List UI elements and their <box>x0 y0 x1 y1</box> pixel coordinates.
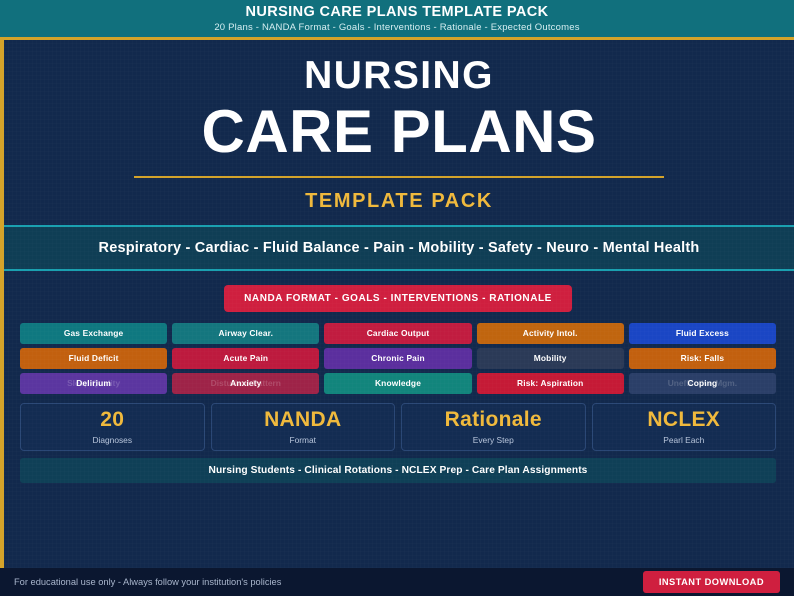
tile-row: Sleep Quality Delirium Disturbed Pattern… <box>20 373 776 394</box>
stat-card: NANDA Format <box>211 403 396 451</box>
footer-disclaimer: For educational use only - Always follow… <box>14 577 643 587</box>
stat-label: Pearl Each <box>663 435 704 445</box>
diagnosis-tile[interactable]: Acute Pain <box>172 348 319 369</box>
hero-title-line2: CARE PLANS <box>4 99 794 165</box>
diagnosis-tile[interactable]: Gas Exchange <box>20 323 167 344</box>
tile-label: Gas Exchange <box>64 328 124 338</box>
header-subtitle: 20 Plans - NANDA Format - Goals - Interv… <box>214 23 579 33</box>
tile-label: Airway Clear. <box>219 328 274 338</box>
diagnosis-tile[interactable]: Uneffective Mgm. Coping <box>629 373 776 394</box>
diagnosis-tile[interactable]: Fluid Excess <box>629 323 776 344</box>
tile-label: Chronic Pain <box>371 353 424 363</box>
tile-row: Gas Exchange Airway Clear. Cardiac Outpu… <box>20 323 776 344</box>
lower-panel: NANDA FORMAT - GOALS - INTERVENTIONS - R… <box>4 271 794 483</box>
diagnosis-tile[interactable]: Activity Intol. <box>477 323 624 344</box>
nanda-badge-row: NANDA FORMAT - GOALS - INTERVENTIONS - R… <box>20 285 776 312</box>
poster-frame: NURSING CARE PLANS TEMPLATE PACK Respira… <box>0 37 794 571</box>
tile-label: Mobility <box>534 353 567 363</box>
tile-label: Activity Intol. <box>523 328 578 338</box>
tile-label: Coping <box>688 378 718 388</box>
diagnosis-tile[interactable]: Airway Clear. <box>172 323 319 344</box>
stat-card: 20 Diagnoses <box>20 403 205 451</box>
footer-bar: For educational use only - Always follow… <box>0 568 794 596</box>
tile-label: Fluid Deficit <box>69 353 119 363</box>
stat-card: NCLEX Pearl Each <box>592 403 777 451</box>
header-title: NURSING CARE PLANS TEMPLATE PACK <box>245 5 548 20</box>
stat-value: Rationale <box>445 409 542 430</box>
nanda-format-badge: NANDA FORMAT - GOALS - INTERVENTIONS - R… <box>224 285 572 312</box>
diagnosis-tile[interactable]: Chronic Pain <box>324 348 471 369</box>
categories-text: Respiratory - Cardiac - Fluid Balance - … <box>99 240 700 256</box>
stat-value: NCLEX <box>647 409 720 430</box>
diagnosis-tile[interactable]: Mobility <box>477 348 624 369</box>
diagnosis-tile[interactable]: Knowledge <box>324 373 471 394</box>
stat-label: Every Step <box>473 435 514 445</box>
audience-band: Nursing Students - Clinical Rotations - … <box>20 458 776 483</box>
tile-label: Risk: Falls <box>681 353 725 363</box>
hero-divider-rule <box>134 176 664 178</box>
tile-label: Delirium <box>76 378 111 388</box>
hero-section: NURSING CARE PLANS TEMPLATE PACK <box>4 40 794 225</box>
top-header-bar: NURSING CARE PLANS TEMPLATE PACK 20 Plan… <box>0 0 794 37</box>
stat-label: Format <box>289 435 316 445</box>
diagnosis-tile[interactable]: Risk: Aspiration <box>477 373 624 394</box>
tile-label: Cardiac Output <box>367 328 430 338</box>
tile-row: Fluid Deficit Acute Pain Chronic Pain Mo… <box>20 348 776 369</box>
diagnosis-tile-grid: Gas Exchange Airway Clear. Cardiac Outpu… <box>20 323 776 394</box>
stat-card-row: 20 Diagnoses NANDA Format Rationale Ever… <box>20 403 776 451</box>
stat-value: NANDA <box>264 409 341 430</box>
hero-title-line1: NURSING <box>4 56 794 97</box>
audience-text: Nursing Students - Clinical Rotations - … <box>209 465 588 476</box>
poster-root: NURSING CARE PLANS TEMPLATE PACK 20 Plan… <box>0 0 794 596</box>
diagnosis-tile[interactable]: Cardiac Output <box>324 323 471 344</box>
tile-label: Fluid Excess <box>676 328 729 338</box>
diagnosis-tile[interactable]: Risk: Falls <box>629 348 776 369</box>
diagnosis-tile[interactable]: Fluid Deficit <box>20 348 167 369</box>
diagnosis-tile[interactable]: Sleep Quality Delirium <box>20 373 167 394</box>
stat-label: Diagnoses <box>92 435 132 445</box>
diagnosis-tile[interactable]: Disturbed Pattern Anxiety <box>172 373 319 394</box>
tile-label: Acute Pain <box>223 353 268 363</box>
hero-subtitle: TEMPLATE PACK <box>4 190 794 213</box>
stat-card: Rationale Every Step <box>401 403 586 451</box>
categories-band: Respiratory - Cardiac - Fluid Balance - … <box>4 225 794 271</box>
stat-value: 20 <box>100 409 124 430</box>
tile-label: Risk: Aspiration <box>517 378 583 388</box>
instant-download-button[interactable]: INSTANT DOWNLOAD <box>643 571 780 593</box>
tile-label: Anxiety <box>230 378 261 388</box>
tile-label: Knowledge <box>375 378 421 388</box>
